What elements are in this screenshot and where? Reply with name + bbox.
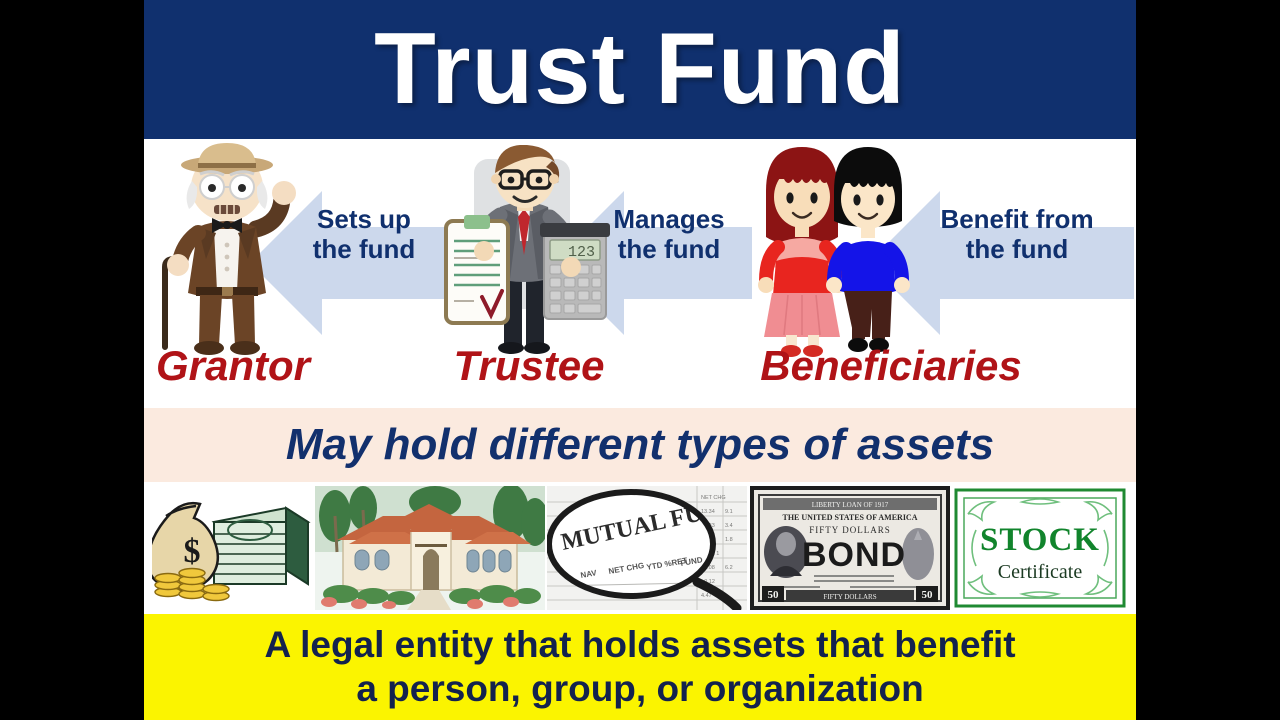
bond-corner-value-right: 50 [921,589,933,601]
arrow-label-line2: the fund [284,235,444,265]
stock-certificate-line1-text: STOCK [980,522,1100,558]
asset-mutual-funds: NET CHG 13.34 54.83 7+3.1 Class 1 21.08 … [547,486,747,610]
letterbox-left [0,0,144,720]
arrow-label-sets-up: Sets up the fund [284,205,444,265]
svg-text:$: $ [184,533,201,570]
infographic-content: Trust Fund Sets up the fund Manages [144,0,1136,720]
assets-image-row: $ [144,482,1136,614]
asset-bond-certificate: LIBERTY LOAN OF 1917 THE UNITED STATES O… [750,486,950,610]
definition-line-2: a person, group, or organization [356,667,923,711]
svg-text:3.4: 3.4 [725,523,733,529]
role-name-grantor: Grantor [138,345,328,387]
bond-main-word-text: BOND [801,536,905,574]
definition-banner: A legal entity that holds assets that be… [144,614,1136,720]
definition-line-1: A legal entity that holds assets that be… [264,623,1015,667]
bond-corner-value-left: 50 [767,589,779,601]
svg-text:4.47: 4.47 [701,593,712,599]
assets-tagline-band: May hold different types of assets [144,408,1136,482]
title-banner: Trust Fund [144,0,1136,139]
role-name-trustee: Trustee [434,345,624,387]
letterbox-right [1136,0,1280,720]
arrow-label-benefit-from: Benefit from the fund [904,205,1130,265]
svg-text:13.34: 13.34 [701,509,715,515]
svg-text:1.8: 1.8 [725,537,733,543]
asset-stock-certificate: STOCK Certificate [952,486,1128,610]
trustee-figure: 123 [440,145,615,362]
arrow-label-line1: Sets up [284,205,444,235]
bond-denom-words-text: FIFTY DOLLARS [809,525,890,535]
asset-house-mansion [315,486,545,610]
mutual-funds-col-nav: NET CHG [701,495,726,501]
arrow-label-line1: Benefit from [904,205,1130,235]
assets-tagline-text: May hold different types of assets [286,420,994,470]
svg-text:6.2: 6.2 [725,565,733,571]
stock-certificate-line2-text: Certificate [998,561,1083,583]
bond-country-text: THE UNITED STATES OF AMERICA [782,513,917,522]
arrow-label-line2: the fund [904,235,1130,265]
bond-header-text: LIBERTY LOAN OF 1917 [811,501,888,509]
roles-section: Sets up the fund Manages the fund Bene [144,139,1136,408]
bond-footer-text: FIFTY DOLLARS [823,593,876,601]
role-name-beneficiaries: Beneficiaries [732,345,1050,387]
page-title: Trust Fund [374,19,906,120]
svg-text:9.1: 9.1 [725,509,733,515]
beneficiaries-figure [748,143,918,363]
infographic-canvas: Trust Fund Sets up the fund Manages [0,0,1280,720]
asset-money-bag-and-cash: $ [152,486,312,610]
grantor-figure [152,141,302,361]
